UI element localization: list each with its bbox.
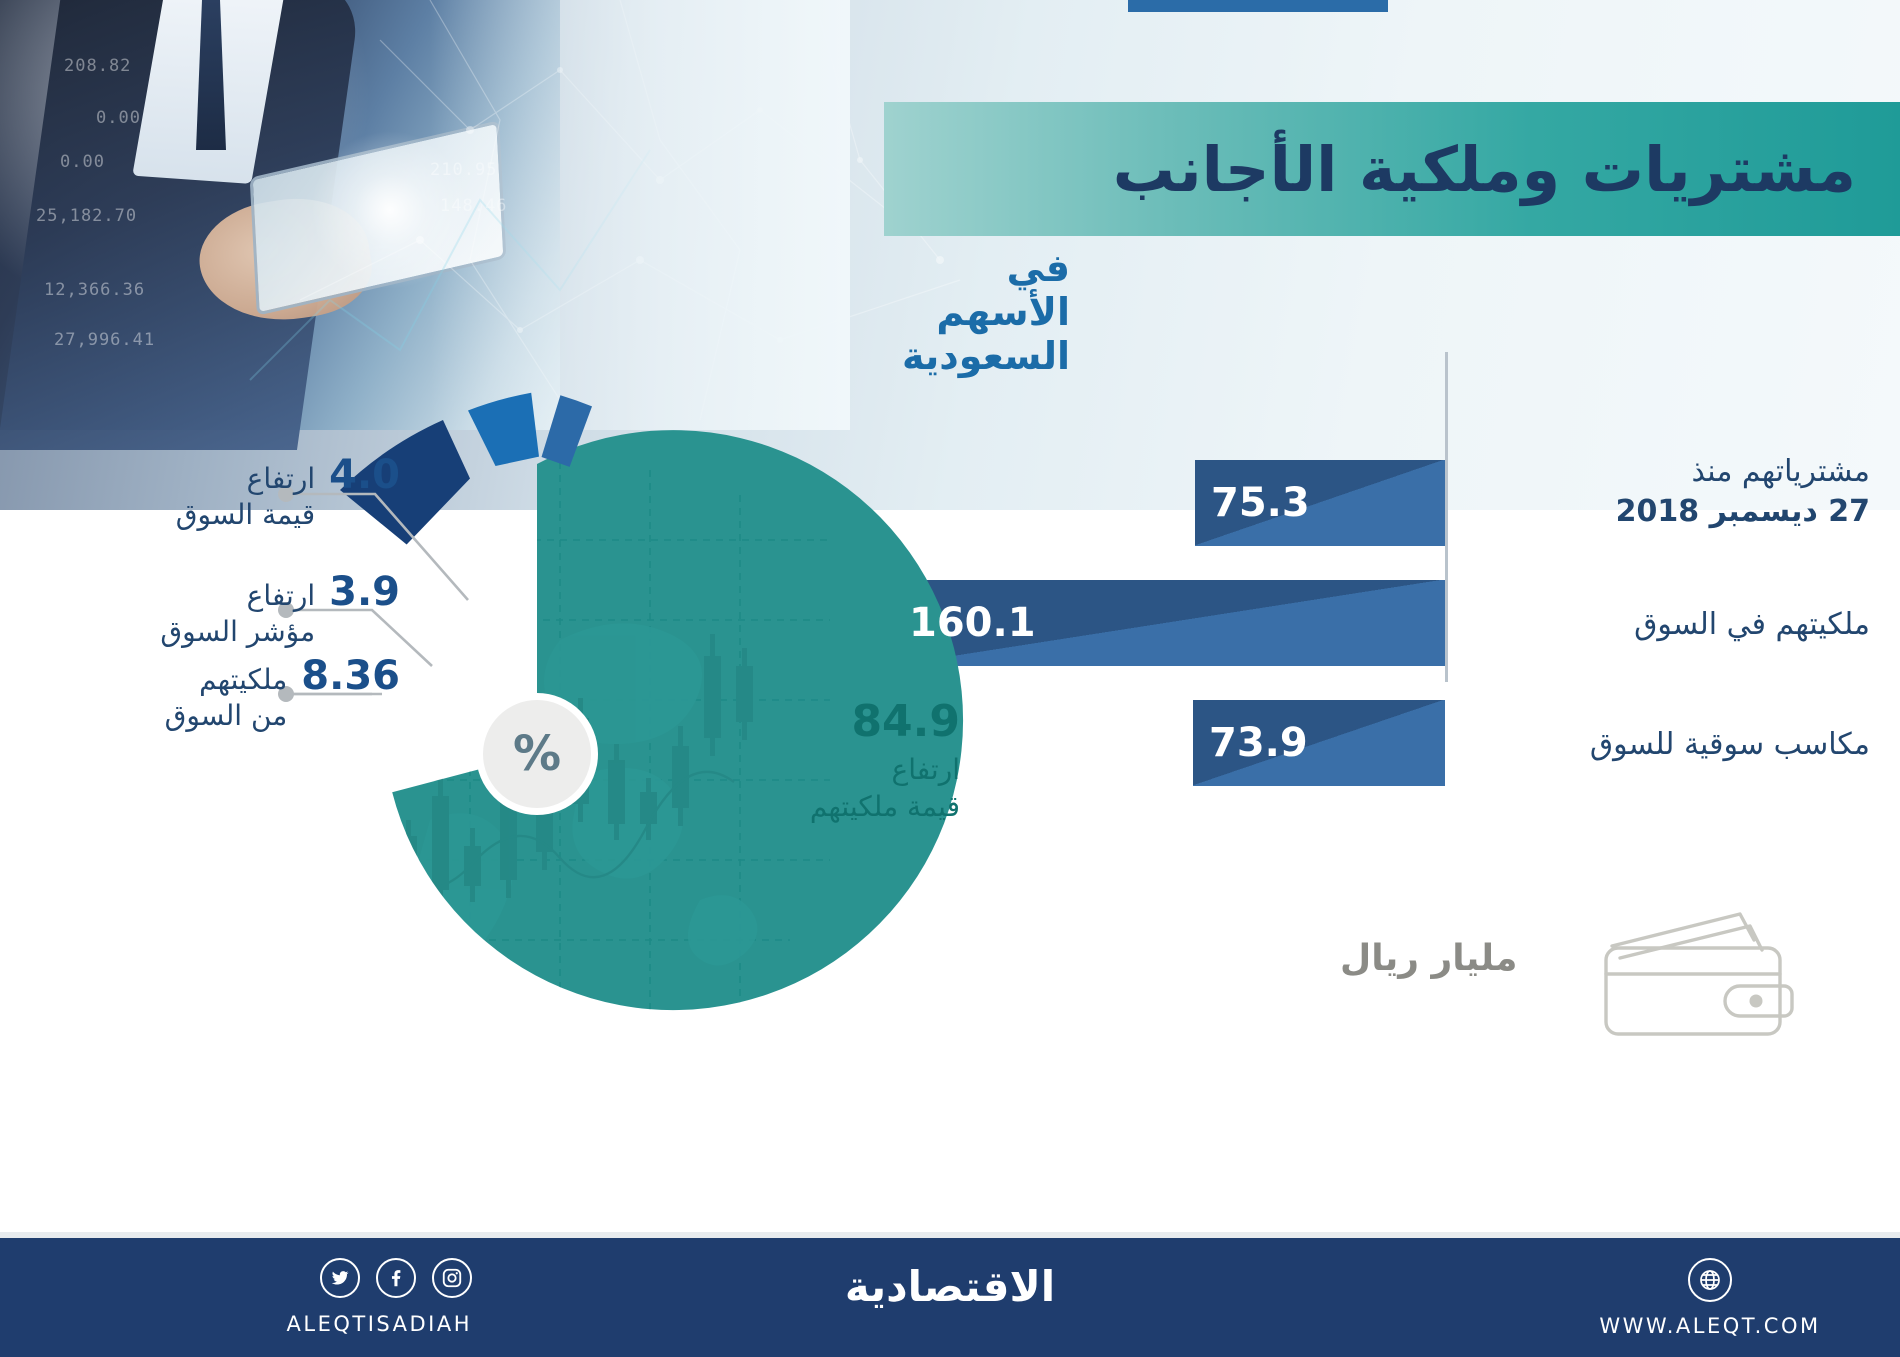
hero-ticker-text: 12,366.36	[44, 280, 145, 300]
pie-main-caption-line1: ارتفاع	[770, 752, 960, 789]
bar-label-line1: مشترياتهم منذ	[1470, 452, 1870, 492]
pie-callout-caption-line2: قيمة السوق	[176, 497, 315, 533]
bar-label-line1: ملكيتهم في السوق	[1470, 605, 1870, 645]
bar-row: 75.3	[1195, 460, 1445, 546]
bar-label-market-gains: مكاسب سوقية للسوق	[1470, 725, 1870, 765]
hero-ticker-text: 25,182.70	[36, 206, 137, 226]
pie-callout-caption: ملكيتهم من السوق	[165, 662, 288, 735]
footer-handle: ALEQTISADIAH	[142, 1312, 472, 1336]
bar-row: 73.9	[1193, 700, 1445, 786]
bar-label-line2: 27 ديسمبر 2018	[1470, 492, 1870, 532]
pie-callout-their-ownership: 8.36 ملكيتهم من السوق	[110, 656, 400, 735]
wallet-icon	[1590, 900, 1800, 1050]
hero-ticker-text: 27,996.41	[54, 330, 155, 350]
pie-callout-caption: ارتفاع مؤشر السوق	[160, 578, 315, 651]
footer-website-block: WWW.ALEQT.COM	[1560, 1258, 1860, 1338]
footer-website: WWW.ALEQT.COM	[1560, 1314, 1860, 1338]
hero-ticker-text: 0.00	[96, 108, 141, 128]
bar-label-ownership: ملكيتهم في السوق	[1470, 605, 1870, 645]
pie-callout-value: 4.0	[329, 455, 400, 495]
pie-callout-ownership-value-rise: 84.9 ارتفاع قيمة ملكيتهم	[770, 700, 960, 826]
hero-ticker-text: 208.82	[64, 56, 131, 76]
unit-legend: مليار ريال	[1300, 880, 1800, 1060]
unit-legend-label: مليار ريال	[1340, 938, 1590, 979]
bar-row: 160.1	[893, 580, 1445, 666]
infographic-root: 208.82 0.00 0.00 25,182.70 12,366.36 27,…	[0, 0, 1900, 1357]
pie-main-value: 84.9	[770, 700, 960, 744]
bar-purchases: 75.3	[1195, 460, 1445, 546]
bar-value-ownership: 160.1	[909, 600, 1036, 646]
globe-icon[interactable]	[1688, 1258, 1732, 1302]
pie-callout-caption-line1: ملكيتهم	[165, 662, 288, 698]
pie-callout-market-value: 4.0 ارتفاع قيمة السوق	[130, 455, 400, 534]
pie-center-percent-badge: %	[483, 700, 591, 808]
pie-main-caption: ارتفاع قيمة ملكيتهم	[770, 752, 960, 826]
pie-callout-value: 3.9	[329, 572, 400, 612]
bar-ownership: 160.1	[893, 580, 1445, 666]
page-subtitle: في الأسهم السعودية	[884, 246, 1484, 378]
header-accent-tab	[1128, 0, 1388, 12]
bar-value-purchases: 75.3	[1211, 480, 1310, 526]
pie-callout-caption-line1: ارتفاع	[176, 461, 315, 497]
hero-fade-overlay	[430, 0, 850, 430]
bar-label-line1: مكاسب سوقية للسوق	[1470, 725, 1870, 765]
pie-callout-caption: ارتفاع قيمة السوق	[176, 461, 315, 534]
pie-callout-market-index: 3.9 ارتفاع مؤشر السوق	[130, 572, 400, 651]
pie-callout-caption-line1: ارتفاع	[160, 578, 315, 614]
page-title: مشتريات وملكية الأجانب	[884, 104, 1870, 234]
pie-callout-caption-line2: من السوق	[165, 698, 288, 734]
bar-value-market-gains: 73.9	[1209, 720, 1308, 766]
pie-callout-caption-line2: مؤشر السوق	[160, 614, 315, 650]
pie-main-caption-line2: قيمة ملكيتهم	[770, 789, 960, 826]
bar-label-purchases: مشترياتهم منذ 27 ديسمبر 2018	[1470, 452, 1870, 531]
pie-callout-value: 8.36	[301, 656, 400, 696]
hero-ticker-text: 0.00	[60, 152, 105, 172]
bar-chart-axis	[1445, 352, 1448, 682]
bar-market-gains: 73.9	[1193, 700, 1445, 786]
